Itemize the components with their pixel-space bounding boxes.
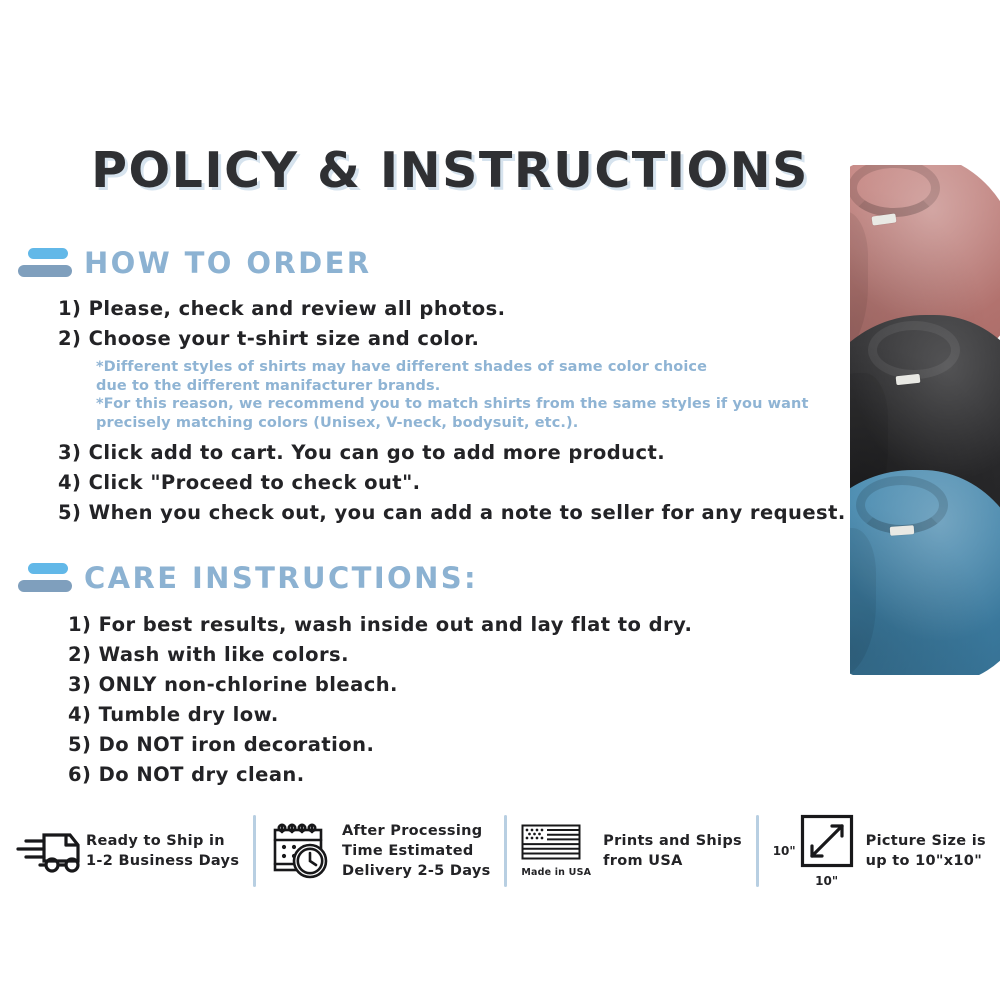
badge-made-in-usa: Made in USA Prints and Ships from USA — [521, 806, 742, 896]
note-line: precisely matching colors (Unisex, V-nec… — [96, 414, 846, 433]
square-diagonal-arrow-icon-group: 10" 10" — [773, 814, 854, 888]
list-item: 3) ONLY non-chlorine bleach. — [68, 670, 692, 700]
badge-ready-to-ship: Ready to Ship in 1-2 Business Days — [14, 806, 239, 896]
list-item: 5) Do NOT iron decoration. — [68, 730, 692, 760]
stacked-bars-icon-top-bar — [28, 563, 68, 574]
shirt-neck-label — [890, 525, 915, 536]
steel-blue-tshirt — [850, 470, 1000, 675]
badge-line: After Processing — [342, 821, 491, 841]
stacked-bars-icon — [14, 246, 72, 280]
size-label-bottom: 10" — [800, 874, 854, 888]
how-to-order-list: 1) Please, check and review all photos. … — [58, 294, 846, 528]
badge-line: Prints and Ships — [603, 831, 742, 851]
section-header-care-instructions: CARE INSTRUCTIONS: — [14, 561, 478, 595]
size-label-side: 10" — [773, 844, 796, 858]
list-item: 5) When you check out, you can add a not… — [58, 498, 846, 528]
shirt-neck-label — [871, 213, 896, 225]
shirt-collar — [850, 165, 940, 217]
badge-picture-size: 10" 10" Picture Size is up to 10"x — [773, 806, 986, 896]
list-item: 2) Wash with like colors. — [68, 640, 692, 670]
list-item: 1) For best results, wash inside out and… — [68, 610, 692, 640]
list-item: 2) Choose your t-shirt size and color. — [58, 324, 846, 354]
section-header-how-to-order: HOW TO ORDER — [14, 246, 372, 280]
color-variation-notes: *Different styles of shirts may have dif… — [96, 358, 846, 432]
badge-divider — [504, 815, 507, 887]
shipping-info-badge-strip: Ready to Ship in 1-2 Business Days — [14, 806, 986, 896]
badge-text-processing-time: After Processing Time Estimated Delivery… — [342, 821, 491, 881]
badge-processing-time: After Processing Time Estimated Delivery… — [270, 806, 491, 896]
badge-line: 1-2 Business Days — [86, 851, 239, 871]
badge-text-made-in-usa: Prints and Ships from USA — [603, 831, 742, 871]
badge-text-ready-to-ship: Ready to Ship in 1-2 Business Days — [86, 831, 239, 871]
stacked-bars-icon-top-bar — [28, 248, 68, 259]
badge-text-picture-size: Picture Size is up to 10"x10" — [866, 831, 986, 871]
list-item: 3) Click add to cart. You can go to add … — [58, 438, 846, 468]
badge-line: Delivery 2-5 Days — [342, 861, 491, 881]
square-diagonal-arrow-icon — [800, 814, 854, 873]
page-title: POLICY & INSTRUCTIONS — [60, 142, 840, 199]
stacked-bars-icon-bottom-bar — [18, 265, 72, 277]
badge-divider — [756, 815, 759, 887]
note-line: *Different styles of shirts may have dif… — [96, 358, 846, 377]
list-item: 1) Please, check and review all photos. — [58, 294, 846, 324]
stacked-bars-icon-bottom-bar — [18, 580, 72, 592]
badge-line: Time Estimated — [342, 841, 491, 861]
usa-flag-icon — [521, 824, 591, 865]
note-line: due to the different manifacturer brands… — [96, 377, 846, 396]
badge-line: up to 10"x10" — [866, 851, 986, 871]
delivery-truck-icon — [14, 827, 86, 875]
badge-line: Ready to Ship in — [86, 831, 239, 851]
badge-line: Picture Size is — [866, 831, 986, 851]
section-title-care-instructions: CARE INSTRUCTIONS: — [84, 561, 478, 595]
usa-flag-icon-group: Made in USA — [521, 824, 591, 878]
list-item: 6) Do NOT dry clean. — [68, 760, 692, 790]
shirt-neck-label — [896, 374, 921, 385]
badge-line: from USA — [603, 851, 742, 871]
shirt-collar — [868, 321, 960, 379]
policy-instructions-sheet: POLICY & INSTRUCTIONS HOW TO ORDER 1) Pl… — [0, 0, 1000, 1000]
list-item: 4) Tumble dry low. — [68, 700, 692, 730]
calendar-clock-icon — [270, 821, 332, 881]
note-line: *For this reason, we recommend you to ma… — [96, 395, 846, 414]
badge-divider — [253, 815, 256, 887]
usa-flag-caption: Made in USA — [521, 867, 591, 878]
tshirt-photo-collage — [850, 165, 1000, 675]
list-item: 4) Click "Proceed to check out". — [58, 468, 846, 498]
section-title-how-to-order: HOW TO ORDER — [84, 246, 372, 280]
care-instructions-list: 1) For best results, wash inside out and… — [68, 610, 692, 790]
stacked-bars-icon — [14, 561, 72, 595]
shirt-sleeve-shadow — [850, 528, 876, 675]
